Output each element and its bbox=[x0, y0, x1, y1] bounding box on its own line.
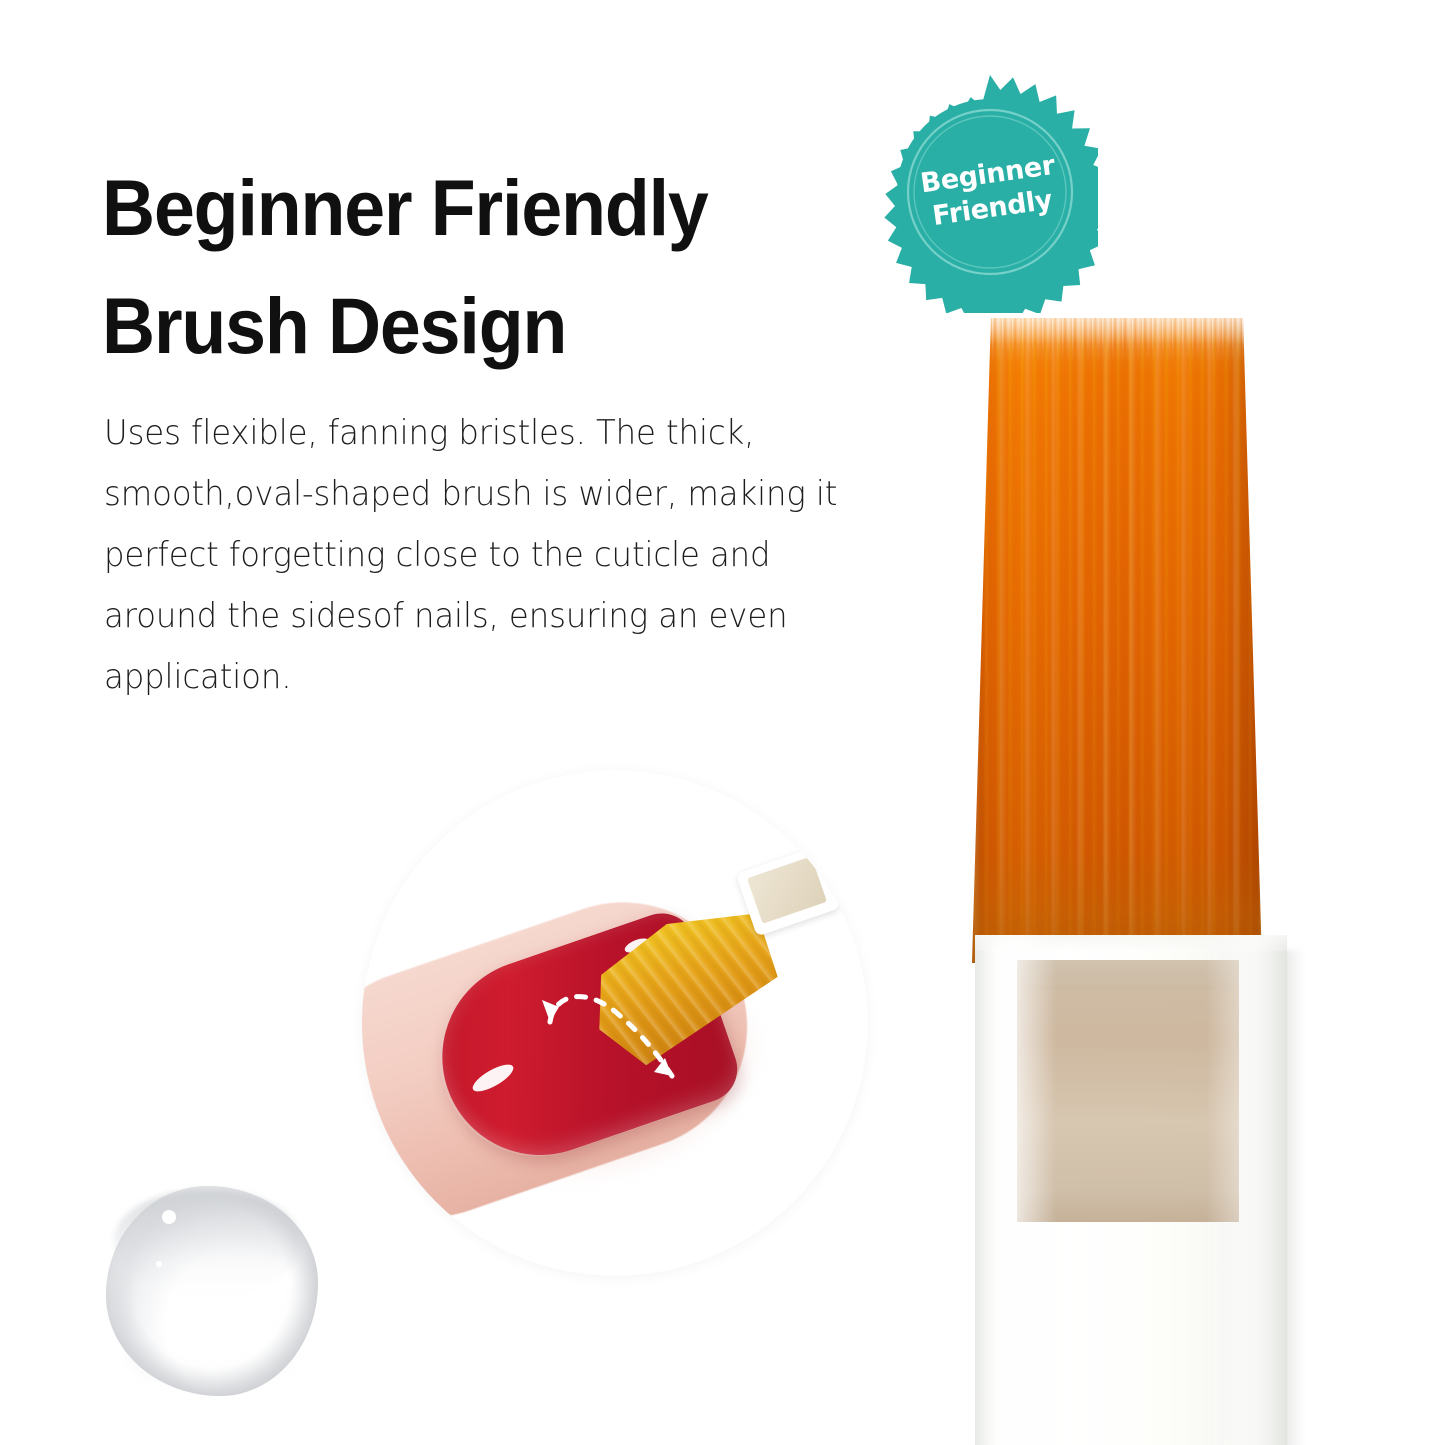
beginner-friendly-badge: Beginner Friendly bbox=[882, 70, 1098, 313]
product-feature-card: Beginner Friendly Brush Design Uses flex… bbox=[0, 0, 1445, 1445]
page-title: Beginner Friendly Brush Design bbox=[102, 149, 809, 385]
badge-label-group: Beginner Friendly bbox=[866, 56, 1114, 327]
stroke-direction-arrow-icon bbox=[532, 980, 702, 1125]
brush-bristles bbox=[972, 318, 1262, 963]
bristle-tips bbox=[972, 316, 1262, 362]
product-brush-image bbox=[930, 300, 1330, 1445]
application-demo-inset bbox=[362, 770, 868, 1276]
handle-top-edge bbox=[975, 935, 1287, 951]
handle-inner-core bbox=[1017, 960, 1239, 1222]
water-droplet bbox=[106, 1186, 318, 1396]
description-paragraph: Uses flexible, fanning bristles. The thi… bbox=[104, 402, 886, 707]
droplet-highlight-secondary bbox=[156, 1261, 162, 1267]
droplet-highlight-primary bbox=[162, 1210, 176, 1224]
droplet-top-shading bbox=[114, 1190, 300, 1294]
handle-inner-core-top bbox=[1017, 960, 1239, 990]
